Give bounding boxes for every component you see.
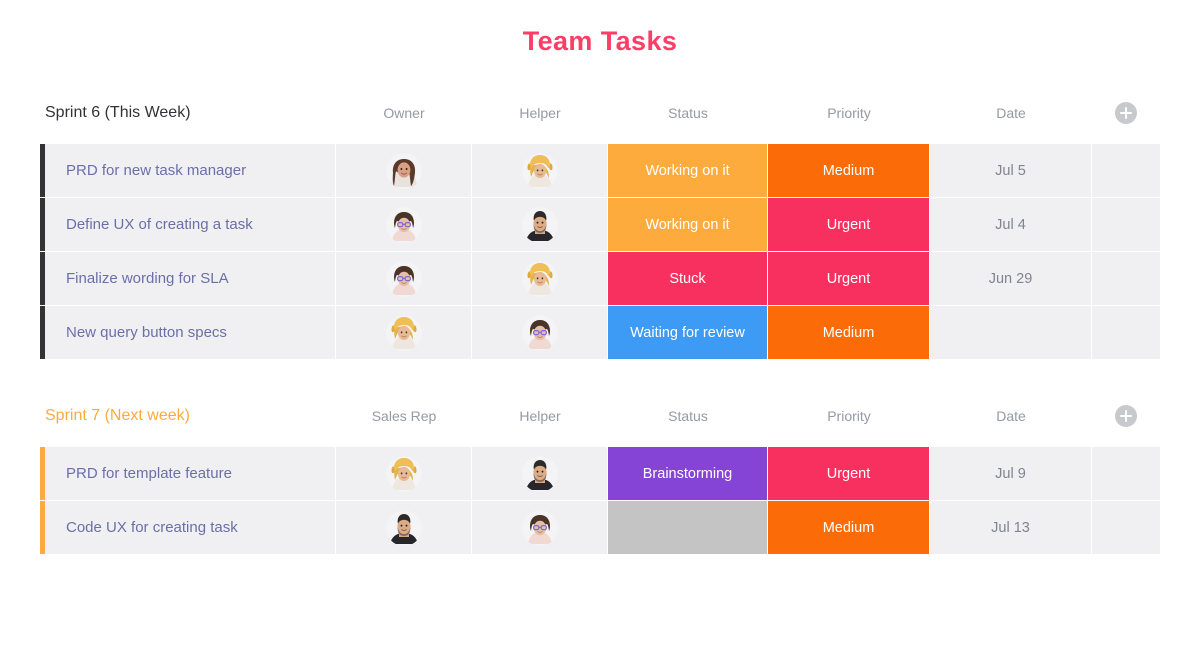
task-group: Sprint 7 (Next week)Sales RepHelperStatu… bbox=[40, 397, 1160, 554]
priority-cell[interactable]: Medium bbox=[768, 501, 930, 554]
add-column-button[interactable] bbox=[1092, 102, 1160, 124]
status-cell[interactable]: Waiting for review bbox=[608, 306, 768, 359]
table-row: PRD for new task managerWorking on itMed… bbox=[40, 144, 1160, 197]
table-row: PRD for template featureBrainstormingUrg… bbox=[40, 447, 1160, 500]
task-name-cell[interactable]: Define UX of creating a task bbox=[40, 198, 336, 251]
column-header-sales-rep[interactable]: Sales Rep bbox=[336, 408, 472, 424]
priority-cell[interactable]: Urgent bbox=[768, 447, 930, 500]
row-tail-cell[interactable] bbox=[1092, 144, 1160, 197]
person-fur-hat-avatar[interactable] bbox=[386, 315, 422, 351]
group-color-bar bbox=[40, 306, 45, 359]
task-name-label: Finalize wording for SLA bbox=[66, 270, 229, 287]
plus-circle-icon[interactable] bbox=[1115, 102, 1137, 124]
row-tail-cell[interactable] bbox=[1092, 252, 1160, 305]
person-fur-hat-avatar[interactable] bbox=[386, 456, 422, 492]
table-row: Code UX for creating taskMediumJul 13 bbox=[40, 501, 1160, 554]
person-glasses-avatar[interactable] bbox=[386, 261, 422, 297]
man-beard-avatar[interactable] bbox=[386, 510, 422, 546]
group-color-bar bbox=[40, 501, 45, 554]
task-name-cell[interactable]: Code UX for creating task bbox=[40, 501, 336, 554]
plus-circle-icon[interactable] bbox=[1115, 405, 1137, 427]
helper-cell[interactable] bbox=[472, 501, 608, 554]
person-glasses-avatar[interactable] bbox=[522, 315, 558, 351]
owner-cell[interactable] bbox=[336, 252, 472, 305]
table-row: New query button specsWaiting for review… bbox=[40, 306, 1160, 359]
person-fur-hat-avatar[interactable] bbox=[522, 153, 558, 189]
date-cell[interactable]: Jul 9 bbox=[930, 447, 1092, 500]
task-name-cell[interactable]: PRD for template feature bbox=[40, 447, 336, 500]
column-header-owner[interactable]: Owner bbox=[336, 105, 472, 121]
column-header-helper[interactable]: Helper bbox=[472, 105, 608, 121]
column-header-date[interactable]: Date bbox=[930, 105, 1092, 121]
column-header-date[interactable]: Date bbox=[930, 408, 1092, 424]
board-container: Sprint 6 (This Week)OwnerHelperStatusPri… bbox=[0, 94, 1200, 554]
status-cell[interactable]: Brainstorming bbox=[608, 447, 768, 500]
row-tail-cell[interactable] bbox=[1092, 306, 1160, 359]
priority-cell[interactable]: Urgent bbox=[768, 252, 930, 305]
task-name-cell[interactable]: Finalize wording for SLA bbox=[40, 252, 336, 305]
status-cell[interactable]: Stuck bbox=[608, 252, 768, 305]
date-cell[interactable]: Jul 5 bbox=[930, 144, 1092, 197]
owner-cell[interactable] bbox=[336, 144, 472, 197]
group-header-row: Sprint 7 (Next week)Sales RepHelperStatu… bbox=[40, 397, 1160, 435]
group-title[interactable]: Sprint 7 (Next week) bbox=[40, 407, 336, 425]
column-header-status[interactable]: Status bbox=[608, 105, 768, 121]
helper-cell[interactable] bbox=[472, 306, 608, 359]
owner-cell[interactable] bbox=[336, 447, 472, 500]
priority-cell[interactable]: Medium bbox=[768, 306, 930, 359]
row-tail-cell[interactable] bbox=[1092, 447, 1160, 500]
group-color-bar bbox=[40, 252, 45, 305]
date-cell[interactable]: Jul 4 bbox=[930, 198, 1092, 251]
column-header-priority[interactable]: Priority bbox=[768, 408, 930, 424]
task-name-label: Define UX of creating a task bbox=[66, 216, 253, 233]
status-cell[interactable] bbox=[608, 501, 768, 554]
column-header-status[interactable]: Status bbox=[608, 408, 768, 424]
column-header-priority[interactable]: Priority bbox=[768, 105, 930, 121]
task-name-label: New query button specs bbox=[66, 324, 227, 341]
owner-cell[interactable] bbox=[336, 198, 472, 251]
man-beard-avatar[interactable] bbox=[522, 456, 558, 492]
owner-cell[interactable] bbox=[336, 306, 472, 359]
helper-cell[interactable] bbox=[472, 447, 608, 500]
person-glasses-avatar[interactable] bbox=[386, 207, 422, 243]
group-color-bar bbox=[40, 198, 45, 251]
woman-brown-hair-avatar[interactable] bbox=[386, 153, 422, 189]
table-row: Finalize wording for SLAStuckUrgentJun 2… bbox=[40, 252, 1160, 305]
table-row: Define UX of creating a taskWorking on i… bbox=[40, 198, 1160, 251]
priority-cell[interactable]: Urgent bbox=[768, 198, 930, 251]
status-cell[interactable]: Working on it bbox=[608, 198, 768, 251]
helper-cell[interactable] bbox=[472, 252, 608, 305]
date-cell[interactable]: Jun 29 bbox=[930, 252, 1092, 305]
group-color-bar bbox=[40, 447, 45, 500]
person-fur-hat-avatar[interactable] bbox=[522, 261, 558, 297]
task-name-label: PRD for template feature bbox=[66, 465, 232, 482]
date-cell[interactable]: Jul 13 bbox=[930, 501, 1092, 554]
owner-cell[interactable] bbox=[336, 501, 472, 554]
column-header-helper[interactable]: Helper bbox=[472, 408, 608, 424]
helper-cell[interactable] bbox=[472, 144, 608, 197]
team-tasks-board-page: Team Tasks Sprint 6 (This Week)OwnerHelp… bbox=[0, 0, 1200, 662]
group-color-bar bbox=[40, 144, 45, 197]
person-glasses-avatar[interactable] bbox=[522, 510, 558, 546]
status-cell[interactable]: Working on it bbox=[608, 144, 768, 197]
priority-cell[interactable]: Medium bbox=[768, 144, 930, 197]
date-cell[interactable] bbox=[930, 306, 1092, 359]
man-beard-avatar[interactable] bbox=[522, 207, 558, 243]
task-name-label: PRD for new task manager bbox=[66, 162, 246, 179]
task-name-cell[interactable]: New query button specs bbox=[40, 306, 336, 359]
task-name-label: Code UX for creating task bbox=[66, 519, 238, 536]
task-group: Sprint 6 (This Week)OwnerHelperStatusPri… bbox=[40, 94, 1160, 359]
row-tail-cell[interactable] bbox=[1092, 198, 1160, 251]
group-header-row: Sprint 6 (This Week)OwnerHelperStatusPri… bbox=[40, 94, 1160, 132]
task-name-cell[interactable]: PRD for new task manager bbox=[40, 144, 336, 197]
row-tail-cell[interactable] bbox=[1092, 501, 1160, 554]
page-title: Team Tasks bbox=[0, 0, 1200, 58]
add-column-button[interactable] bbox=[1092, 405, 1160, 427]
group-title[interactable]: Sprint 6 (This Week) bbox=[40, 104, 336, 122]
helper-cell[interactable] bbox=[472, 198, 608, 251]
